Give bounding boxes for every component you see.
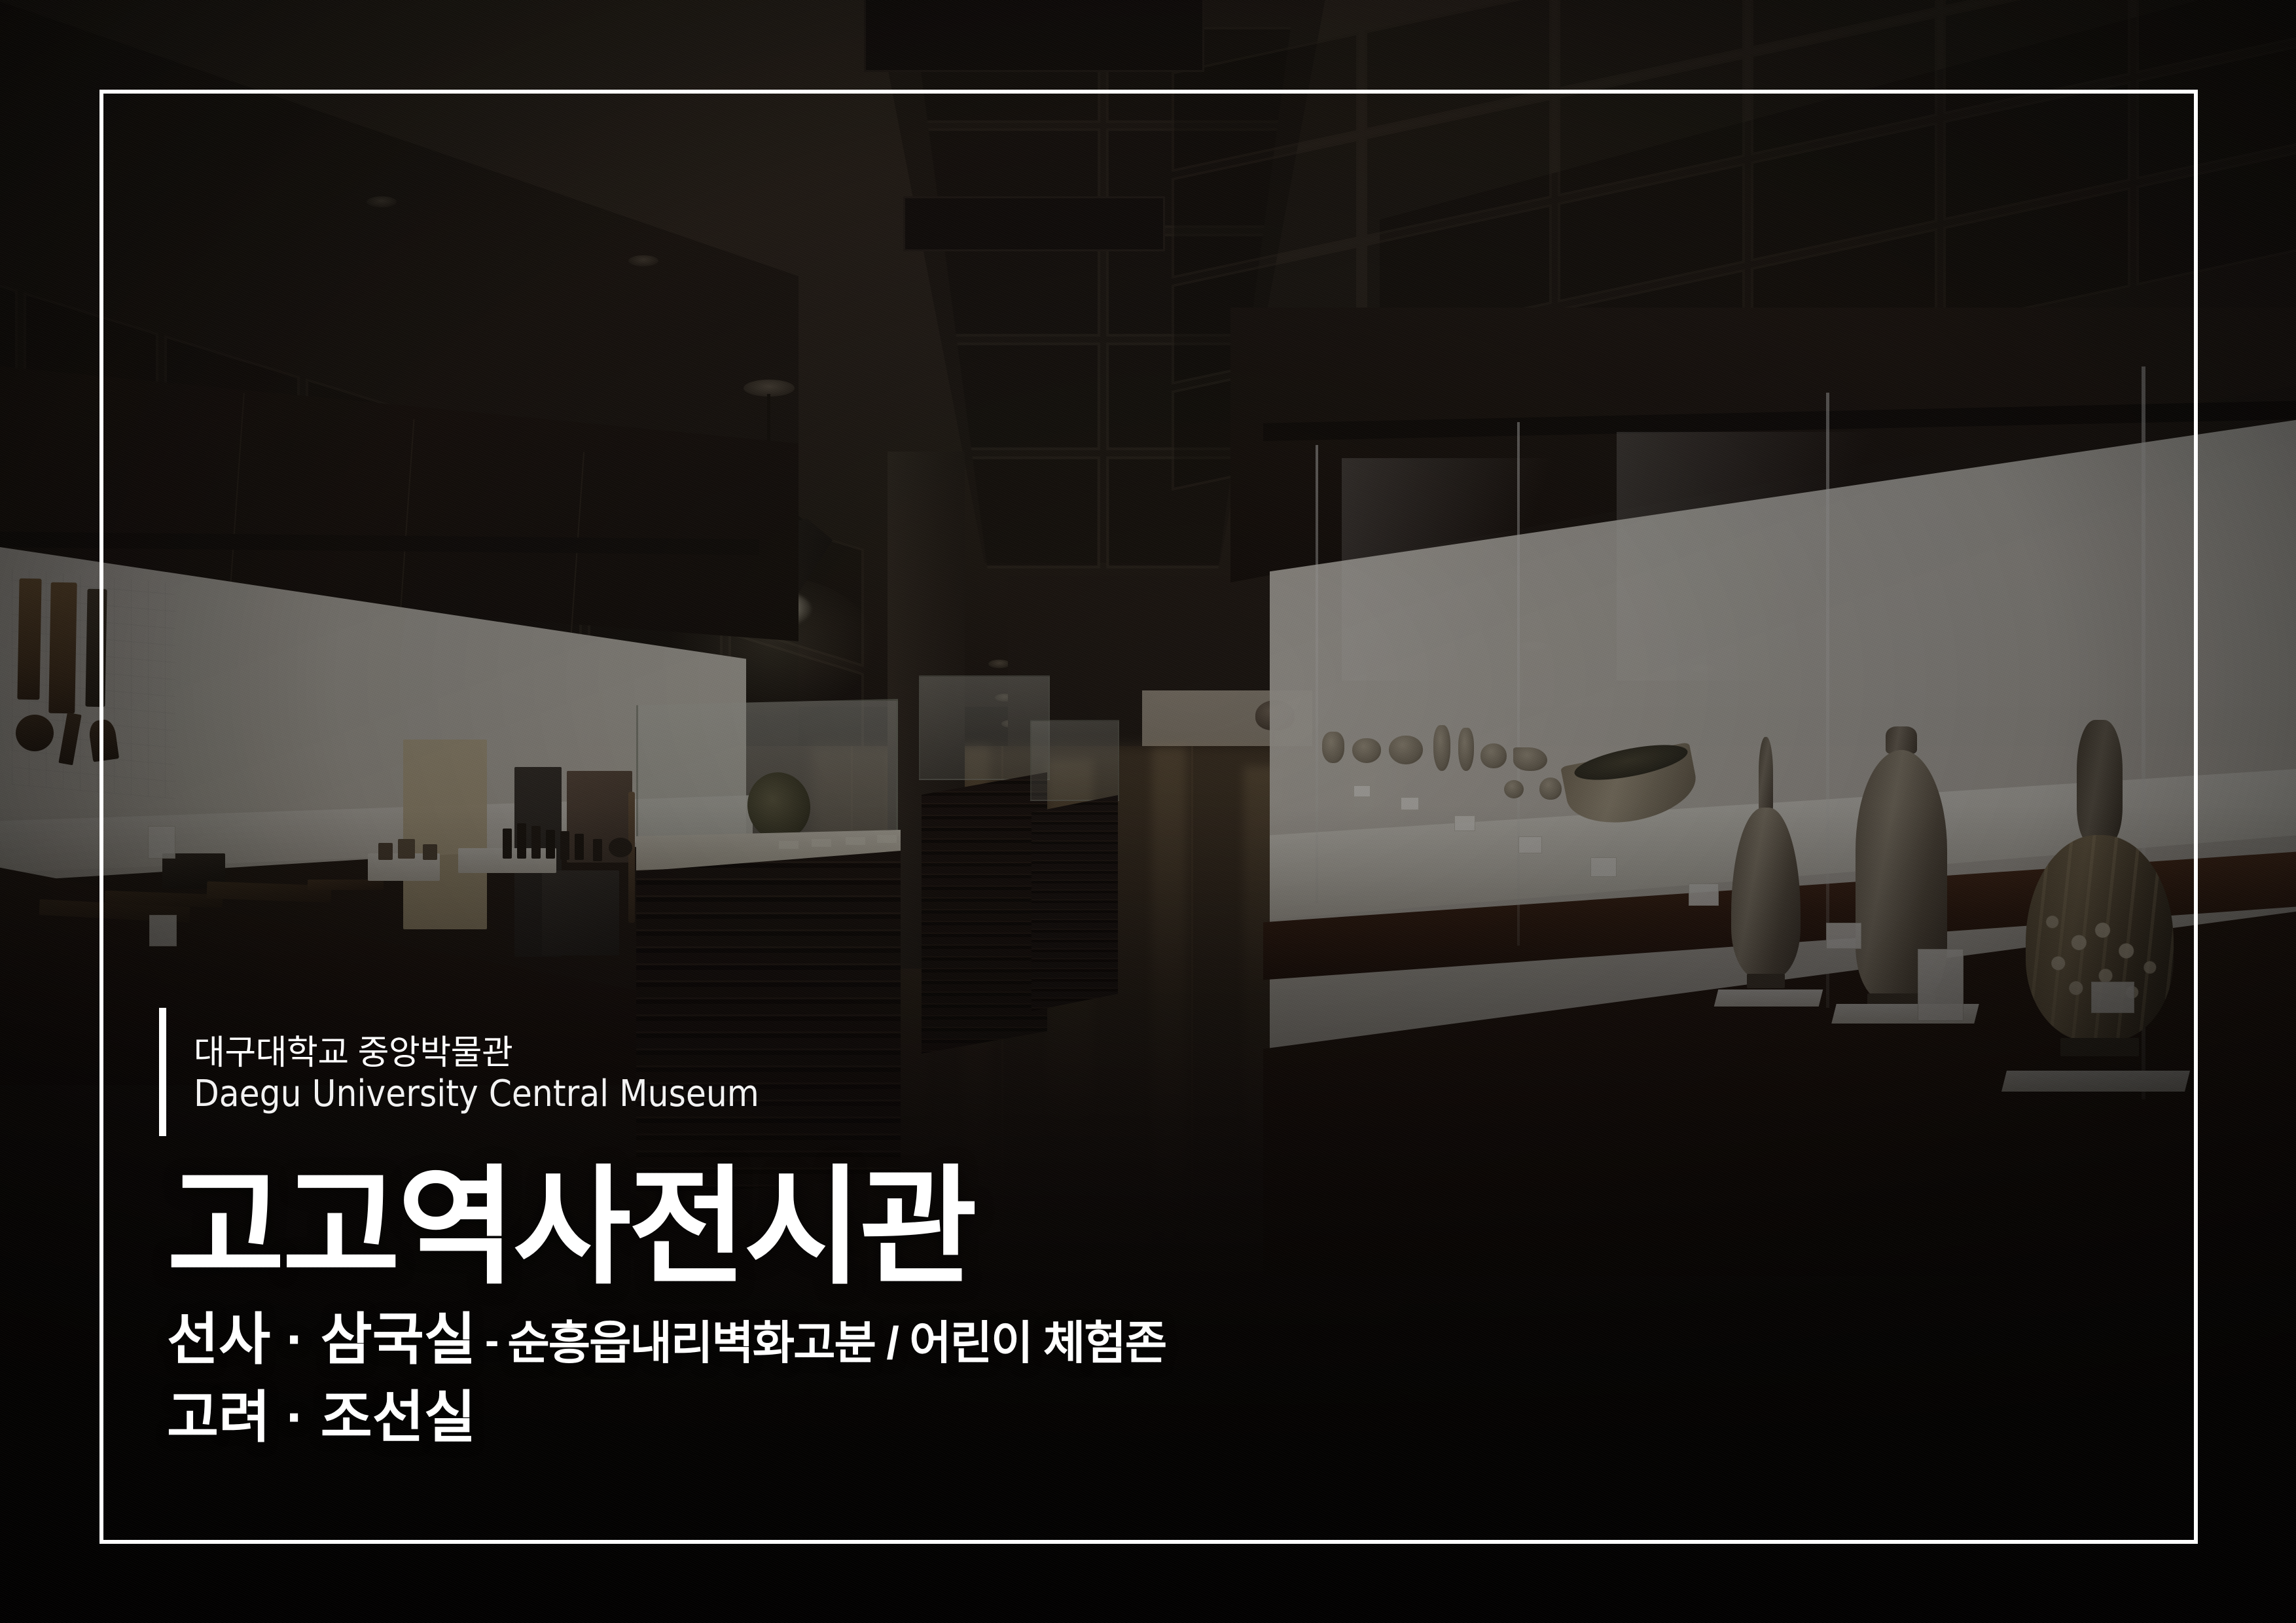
artifact-small-dish-1 (1513, 747, 1547, 771)
artifact-hanging-document (403, 740, 487, 929)
page-title: 고고역사전시관 (167, 1164, 1599, 1292)
artifact-plinth-1 (1714, 990, 1823, 1007)
artifact-caption-card-2 (149, 915, 177, 946)
case-label-1 (1354, 785, 1371, 797)
artifact-small-2 (398, 839, 415, 859)
artifact-wood-strip-1 (17, 579, 41, 700)
artifact-long-tool-4 (308, 880, 384, 890)
downlight-icon-2 (628, 255, 658, 266)
case-label-6 (1689, 883, 1719, 906)
ceiling-vent-lower (903, 196, 1165, 251)
artifact-small-bottle-1 (1433, 725, 1450, 771)
artifact-small-bowl-1 (1352, 738, 1381, 763)
subtitle-line-1: 선사 · 삼국실-순흥읍내리벽화고분 / 어린이 체험존 (167, 1309, 1599, 1371)
institution-name-en: Daegu University Central Museum (194, 1075, 759, 1114)
subtitle-dash: - (476, 1317, 507, 1364)
artifact-small-bottle-2 (1458, 728, 1474, 771)
case-label-7 (1826, 923, 1861, 949)
artifact-small-bowl-2 (1389, 736, 1423, 764)
artifact-thin-rod (628, 792, 635, 923)
artifact-small-1 (378, 843, 393, 860)
artifact-plinth-3 (2001, 1071, 2190, 1092)
pedestal-label-1 (779, 841, 798, 849)
artifact-caption-card-1 (148, 826, 175, 859)
glass-reflection-2 (1617, 432, 1957, 681)
pedestal-label-4 (877, 835, 897, 843)
third-vitrine-glass (1030, 720, 1119, 801)
case-label-3 (1454, 815, 1475, 831)
pedestal-label-2 (812, 839, 831, 847)
ceiling-vent-upper (864, 0, 1204, 72)
glass-mullion-1 (1316, 445, 1318, 903)
case-label-8 (1918, 949, 1964, 1021)
institution-row: 대구대학교 중앙박물관 Daegu University Central Mus… (159, 1008, 1599, 1136)
artifact-wood-strip-2 (48, 582, 77, 714)
case-label-4 (1518, 836, 1542, 853)
subtitle-line-2: 고려 · 조선실 (167, 1387, 1599, 1449)
artifact-small-bowl-3 (1480, 743, 1507, 768)
glass-reflection-1 (1342, 458, 1617, 681)
artifact-wood-strip-3 (85, 589, 107, 707)
institution-name-ko: 대구대학교 중앙박물관 (194, 1035, 759, 1071)
downlight-icon-1 (367, 196, 397, 207)
artifact-small-jar-2 (1539, 777, 1562, 800)
third-vitrine-base (1031, 795, 1118, 1011)
poster-caption-block: 대구대학교 중앙박물관 Daegu University Central Mus… (159, 1008, 1599, 1448)
museum-poster: 대구대학교 중앙박물관 Daegu University Central Mus… (0, 0, 2296, 1623)
pedestal-label-3 (846, 837, 865, 845)
subtitle-room-1: 선사 · 삼국실 (167, 1308, 476, 1371)
artifact-dark-panel-2 (542, 870, 619, 955)
institution-text: 대구대학교 중앙박물관 Daegu University Central Mus… (194, 1008, 759, 1136)
case-label-2 (1401, 797, 1419, 810)
artifact-small-sphere (1504, 780, 1524, 798)
artifact-small-3 (423, 844, 437, 860)
case-label-9 (2091, 982, 2134, 1013)
artifact-decorated-bulbous-vase (2021, 720, 2178, 1086)
downlight-icon-3 (988, 660, 1011, 668)
artifact-small-jar-1 (1322, 732, 1344, 763)
case-label-5 (1590, 857, 1617, 877)
accent-bar (159, 1008, 166, 1136)
artifact-stone-disc (16, 715, 54, 751)
artifact-tall-bottle-vase (1720, 737, 1812, 999)
subtitle-detail: 순흥읍내리벽화고분 / 어린이 체험존 (507, 1317, 1166, 1368)
